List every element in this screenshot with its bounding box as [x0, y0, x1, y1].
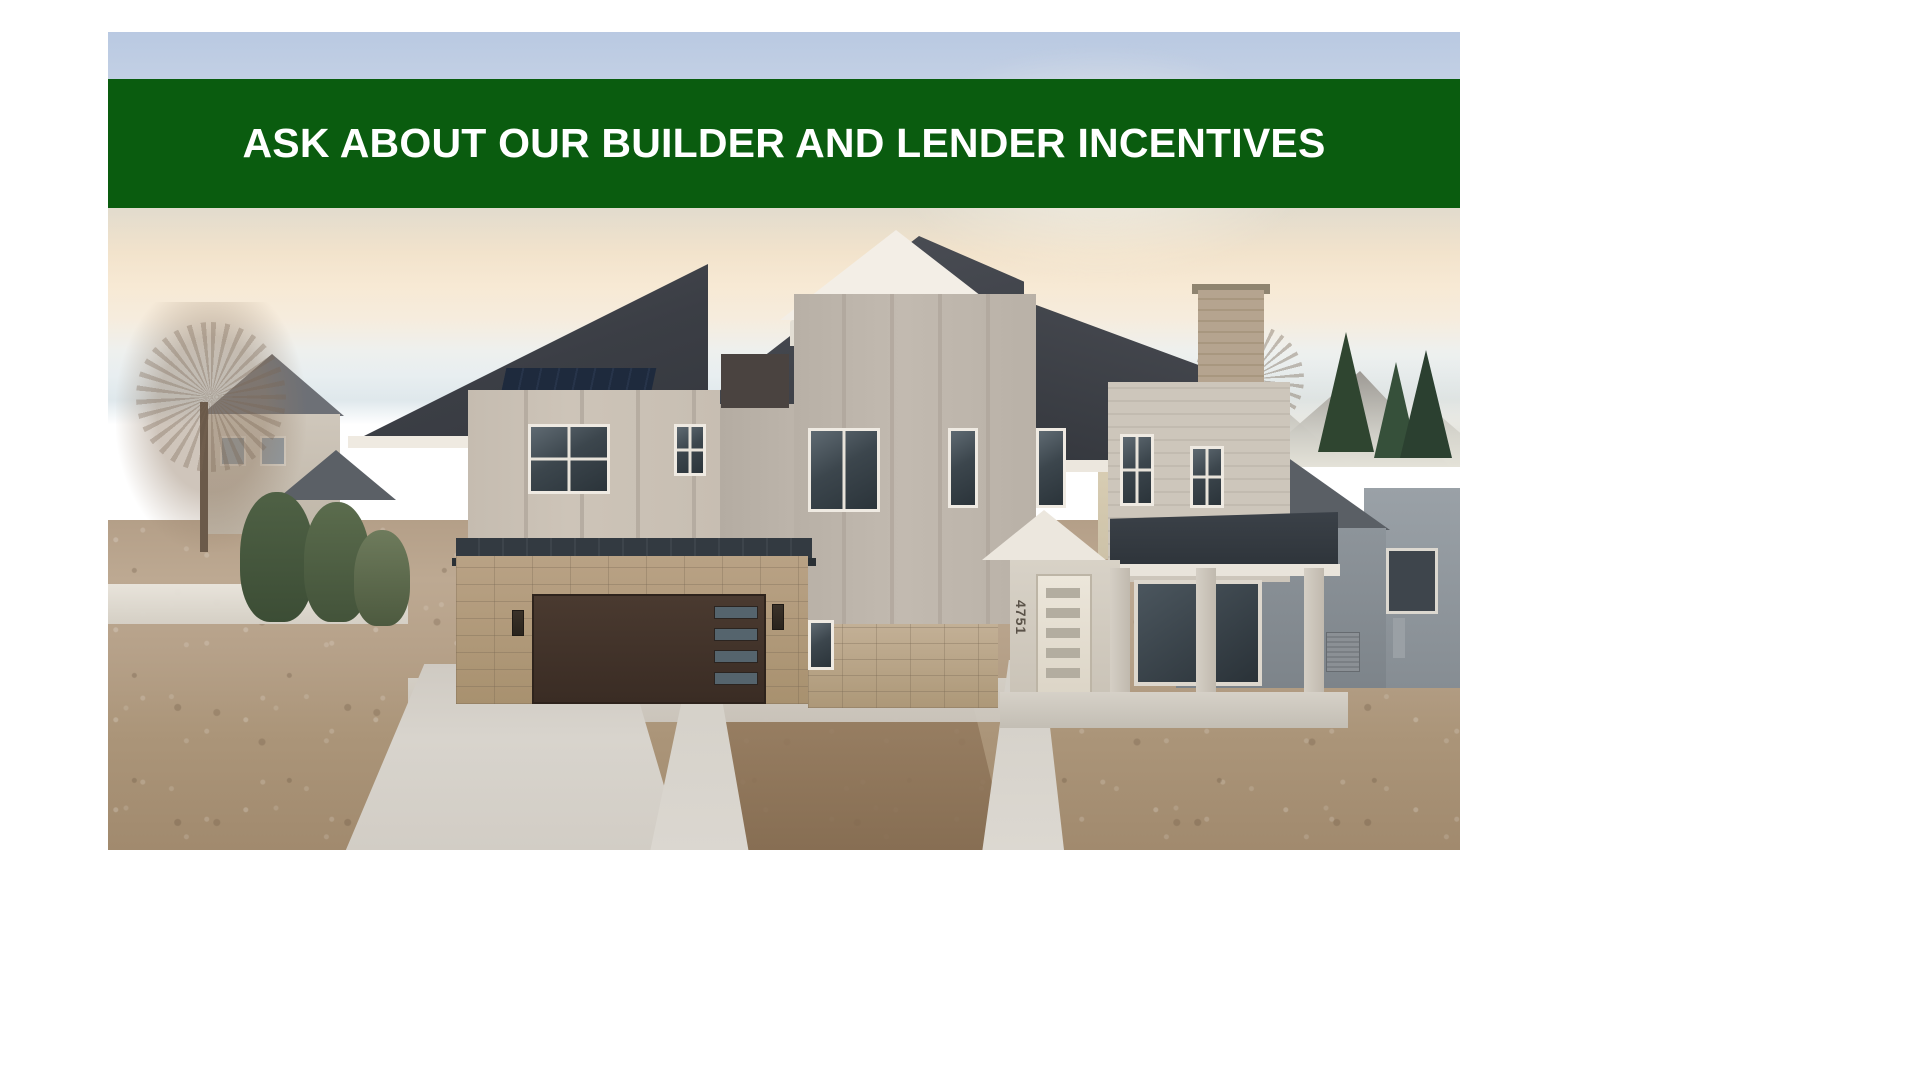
stone-chimney: [1198, 290, 1264, 386]
batten-strip: [938, 294, 942, 624]
wall-mid-band: [720, 404, 800, 556]
door-window-lite: [1046, 668, 1080, 678]
door-window-lite: [1046, 588, 1080, 598]
door-window-lite: [1046, 648, 1080, 658]
window-center-b: [948, 428, 978, 508]
porch-slab: [1000, 692, 1348, 728]
porch-gable: [982, 510, 1106, 560]
porch-column: [1110, 568, 1130, 696]
batten-strip: [890, 294, 894, 624]
listing-photo[interactable]: 4751 ASK ABOUT OUR BUILDER AND LENDER IN…: [108, 32, 1460, 850]
page-root: 4751 ASK ABOUT OUR BUILDER AND LENDER IN…: [0, 0, 1920, 1080]
door-window-lite: [1046, 608, 1080, 618]
door-window-lite: [1046, 628, 1080, 638]
window-upper-left-b: [674, 424, 706, 476]
batten-strip: [986, 294, 990, 624]
window-upper-right-a: [1120, 434, 1154, 506]
window-upper-right-b: [1190, 446, 1224, 508]
promo-banner-text: ASK ABOUT OUR BUILDER AND LENDER INCENTI…: [243, 123, 1326, 164]
stone-veneer-right: [808, 624, 998, 708]
window-upper-left-a: [528, 424, 610, 494]
coach-light-right: [772, 604, 784, 630]
promo-banner[interactable]: ASK ABOUT OUR BUILDER AND LENDER INCENTI…: [108, 79, 1460, 208]
porch-column: [1304, 568, 1324, 696]
batten-strip: [636, 390, 640, 546]
garage-window-lite: [714, 628, 758, 641]
coach-light-left: [512, 610, 524, 636]
porch-roof: [1110, 512, 1338, 568]
porch-column: [1196, 568, 1216, 696]
window-center-a: [808, 428, 880, 512]
redacted-area: [721, 354, 789, 408]
window-center-c: [1036, 428, 1066, 508]
window-lower-center: [808, 620, 834, 670]
garage-window-lite: [714, 672, 758, 685]
skylight-panel: [502, 368, 657, 390]
house-number: 4751: [1012, 600, 1028, 635]
garage-window-lite: [714, 650, 758, 663]
garage-window-lite: [714, 606, 758, 619]
